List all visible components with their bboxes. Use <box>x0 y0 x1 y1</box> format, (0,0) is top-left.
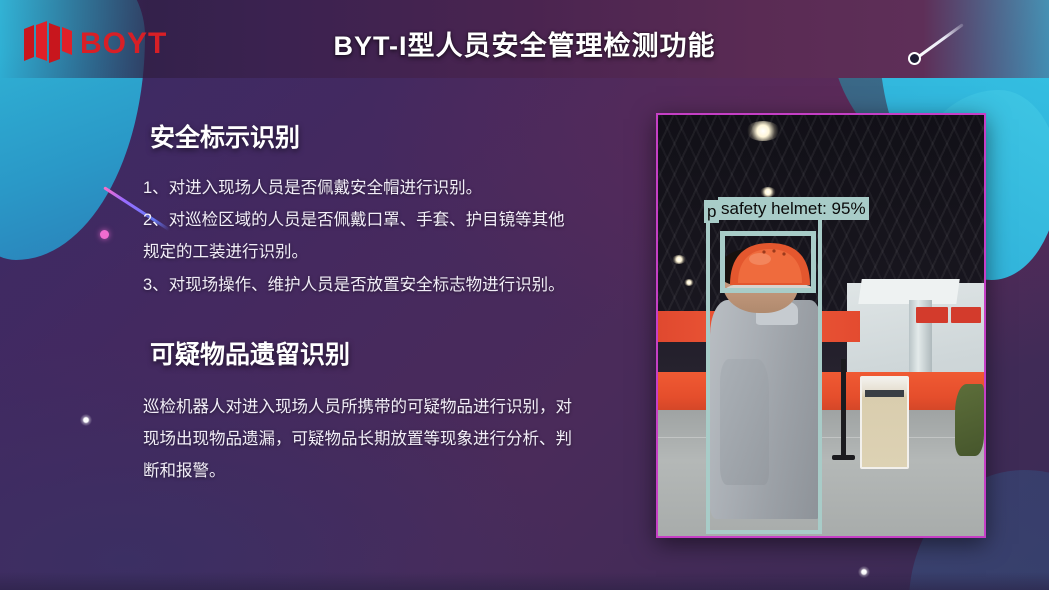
detection-label-safety-helmet: safety helmet: 95% <box>718 197 869 220</box>
ceiling-light-icon <box>684 279 694 286</box>
pointer-knob-decor <box>908 52 921 65</box>
photo-red-sign <box>951 307 980 324</box>
ceiling-light-icon <box>746 121 780 141</box>
section-1-line-2: 2、对巡检区域的人员是否佩戴口罩、手套、护目镜等其他规定的工装进行识别。 <box>110 204 580 268</box>
content-column: 安全标示识别 1、对进入现场人员是否佩戴安全帽进行识别。 2、对巡检区域的人员是… <box>0 118 620 487</box>
photo-cabinet <box>860 376 909 469</box>
section-1-body: 1、对进入现场人员是否佩戴安全帽进行识别。 2、对巡检区域的人员是否佩戴口罩、手… <box>110 172 580 301</box>
photo-plant <box>955 384 984 456</box>
slide-root: BYT-I型人员安全管理检测功能 BOYT 安全标示识别 1、对进入现场人员是否… <box>0 0 1049 590</box>
bottom-vignette <box>0 572 1049 590</box>
logo-wordmark: BOYT <box>80 27 167 60</box>
section-heading-safety-sign: 安全标示识别 <box>150 118 620 154</box>
section-2-body: 巡检机器人对进入现场人员所携带的可疑物品进行识别，对现场出现物品遗漏，可疑物品长… <box>110 391 580 488</box>
section-2-line-1: 巡检机器人对进入现场人员所携带的可疑物品进行识别，对现场出现物品遗漏，可疑物品长… <box>110 391 580 488</box>
section-heading-suspicious-object: 可疑物品遗留识别 <box>150 335 620 371</box>
brand-logo: BOYT <box>18 17 188 65</box>
detection-box-safety-helmet[interactable] <box>720 231 816 293</box>
ceiling-light-icon <box>760 187 776 197</box>
ceiling-light-icon <box>672 255 686 264</box>
photo-red-sign <box>916 307 949 324</box>
section-1-line-3: 3、对现场操作、维护人员是否放置安全标志物进行识别。 <box>110 269 580 301</box>
detection-photo-panel: p safety helmet: 95% <box>656 113 986 538</box>
logo-mark-icon <box>24 21 72 63</box>
photo-queue-pole <box>841 359 846 456</box>
section-1-line-1: 1、对进入现场人员是否佩戴安全帽进行识别。 <box>110 172 580 204</box>
